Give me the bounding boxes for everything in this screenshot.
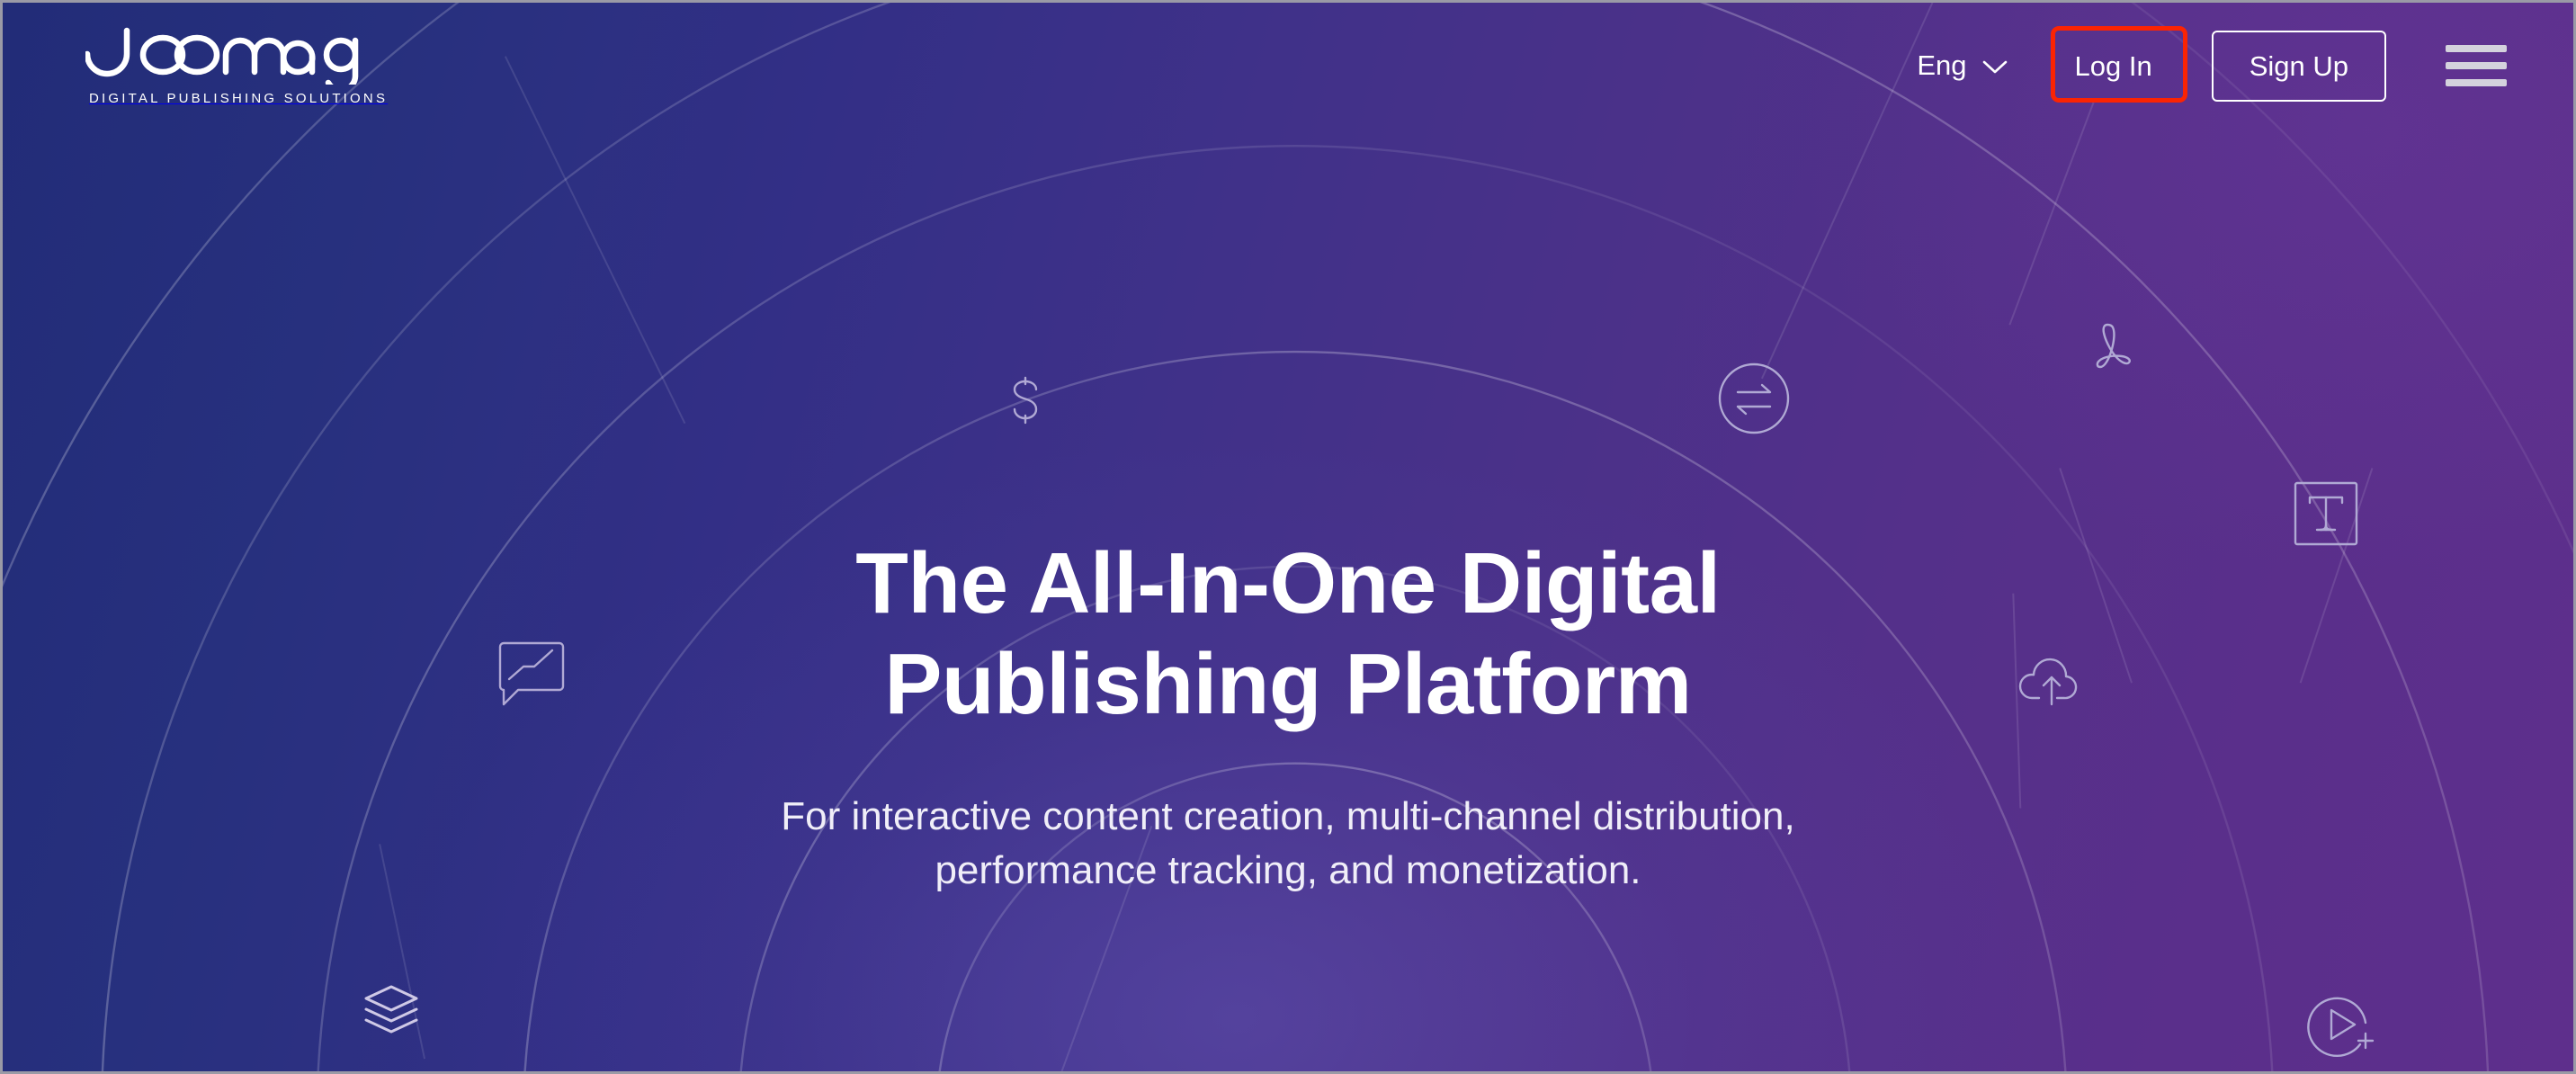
joomag-logo[interactable]: DIGITAL PUBLISHING SOLUTIONS [85, 25, 388, 106]
hamburger-menu-icon[interactable] [2446, 45, 2507, 86]
header-nav: Eng Log In Sign Up [1917, 31, 2507, 102]
joomag-tagline: DIGITAL PUBLISHING SOLUTIONS [89, 91, 388, 106]
browser-viewport: DIGITAL PUBLISHING SOLUTIONS Eng Log In … [0, 0, 2576, 1074]
headline-line-1: The All-In-One Digital [57, 533, 2519, 634]
subhead-line-1: For interactive content creation, multi-… [781, 794, 1794, 838]
hamburger-bar [2446, 62, 2507, 69]
signup-button[interactable]: Sign Up [2212, 31, 2386, 102]
page-title: The All-In-One Digital Publishing Platfo… [57, 533, 2519, 736]
site-header: DIGITAL PUBLISHING SOLUTIONS Eng Log In … [3, 3, 2573, 129]
chevron-down-icon [1981, 49, 2008, 82]
headline-line-2: Publishing Platform [57, 634, 2519, 735]
hero-section: The All-In-One Digital Publishing Platfo… [3, 533, 2573, 899]
language-label: Eng [1917, 49, 1966, 82]
hamburger-bar [2446, 45, 2507, 52]
subhead-line-2: performance tracking, and monetization. [935, 848, 1641, 892]
hamburger-bar [2446, 79, 2507, 86]
hero-subtitle: For interactive content creation, multi-… [57, 790, 2519, 899]
login-button[interactable]: Log In [2041, 31, 2187, 102]
language-selector[interactable]: Eng [1917, 49, 2008, 82]
joomag-wordmark-icon [85, 25, 364, 89]
